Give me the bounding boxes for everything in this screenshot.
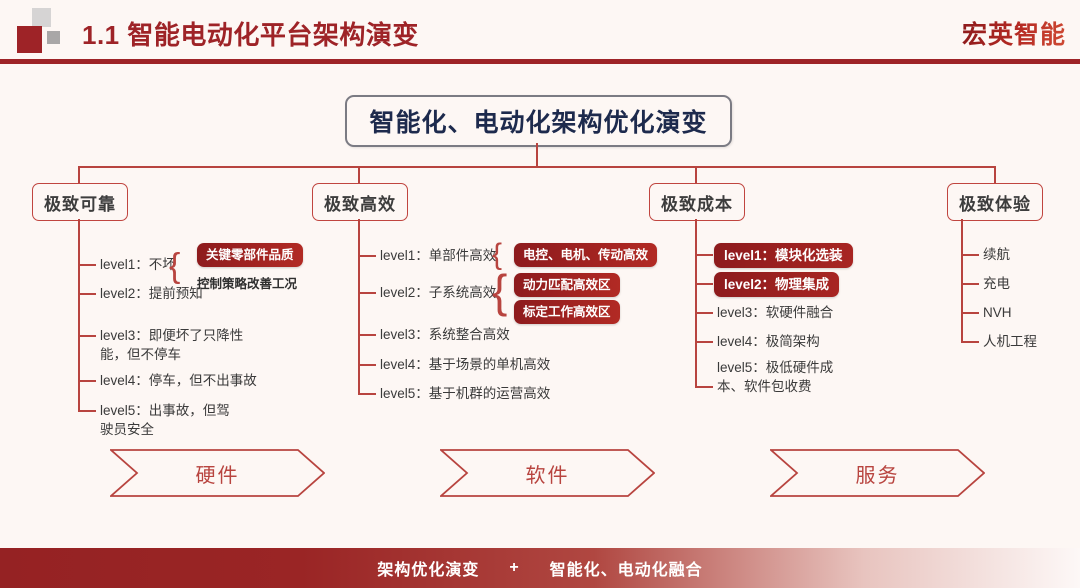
col1-level-1: level1：不坏 (100, 255, 176, 274)
col2-badge-3[interactable]: 标定工作高效区 (514, 300, 620, 324)
category-label-4: 极致体验 (959, 190, 1031, 215)
col3-tick-3 (695, 312, 713, 314)
col2-spine (358, 219, 360, 394)
col2-level-2: level2：子系统高效 (380, 283, 496, 302)
company-logo: 宏英智能 (962, 15, 1066, 51)
category-box-2[interactable]: 极致高效 (312, 183, 408, 221)
col3-tick-1 (695, 254, 713, 256)
chevron-software-label: 软件 (440, 459, 655, 488)
footer-right-label: 智能化、电动化融合 (550, 556, 703, 580)
category-label-1: 极致可靠 (44, 190, 116, 215)
col2-tick-3 (358, 334, 376, 336)
col2-brace-2-icon: { (492, 268, 507, 314)
col1-brace-icon: { (169, 249, 180, 283)
col3-level-2[interactable]: level2：物理集成 (714, 272, 839, 297)
col4-spine (961, 219, 963, 342)
col1-level-5: level5：出事故，但驾驶员安全 (100, 401, 240, 439)
category-box-1[interactable]: 极致可靠 (32, 183, 128, 221)
decor-square-top-icon (32, 8, 51, 27)
col4-tick-2 (961, 283, 979, 285)
col1-tick-3 (78, 335, 96, 337)
slide-header: 1.1 智能电动化平台架构演变 宏英智能 (0, 0, 1080, 63)
col3-tick-5 (695, 386, 713, 388)
col2-badge-2[interactable]: 动力匹配高效区 (514, 273, 620, 297)
col4-item-1: 续航 (983, 245, 1010, 264)
root-title-label: 智能化、电动化架构优化演变 (369, 103, 707, 139)
col1-level-3: level3：即便坏了只降性能，但不停车 (100, 326, 250, 364)
col4-item-4: 人机工程 (983, 332, 1037, 351)
col4-tick-4 (961, 341, 979, 343)
category-label-2: 极致高效 (324, 190, 396, 215)
category-box-4[interactable]: 极致体验 (947, 183, 1043, 221)
category-label-3: 极致成本 (661, 190, 733, 215)
col2-level-4: level4：基于场景的单机高效 (380, 355, 550, 374)
col1-spine (78, 219, 80, 411)
chevron-software[interactable]: 软件 (440, 449, 655, 497)
col1-badge-2: 控制策略改善工况 (197, 273, 297, 292)
chevron-hardware[interactable]: 硬件 (110, 449, 325, 497)
col1-tick-5 (78, 410, 96, 412)
col4-item-3: NVH (983, 303, 1012, 322)
col1-badge-1[interactable]: 关键零部件品质 (197, 243, 303, 267)
root-title-box: 智能化、电动化架构优化演变 (345, 95, 732, 147)
col1-level-4: level4：停车，但不出事故 (100, 371, 257, 390)
col2-level-1: level1：单部件高效 (380, 246, 496, 265)
col4-item-2: 充电 (983, 274, 1010, 293)
chevron-service-label: 服务 (770, 459, 985, 488)
col3-level-5: level5：极低硬件成本、软件包收费 (717, 358, 837, 396)
col1-tick-2 (78, 293, 96, 295)
col2-tick-1 (358, 255, 376, 257)
col2-tick-4 (358, 364, 376, 366)
connector-horizontal-bus (78, 166, 996, 168)
decor-square-small-icon (47, 31, 60, 44)
col1-level-2: level2：提前预知 (100, 284, 203, 303)
col2-level-3: level3：系统整合高效 (380, 325, 510, 344)
category-box-3[interactable]: 极致成本 (649, 183, 745, 221)
col4-tick-1 (961, 254, 979, 256)
footer-text-group: 架构优化演变 + 智能化、电动化融合 (0, 548, 1080, 588)
col3-tick-4 (695, 341, 713, 343)
col1-tick-1 (78, 264, 96, 266)
footer-plus-label: + (509, 559, 519, 577)
slide-canvas: 1.1 智能电动化平台架构演变 宏英智能 智能化、电动化架构优化演变 极致可靠 … (0, 0, 1080, 588)
col3-tick-2 (695, 283, 713, 285)
footer-left-label: 架构优化演变 (377, 556, 479, 580)
col3-spine (695, 219, 697, 387)
col2-badge-1[interactable]: 电控、电机、传动高效 (514, 243, 657, 267)
col1-tick-4 (78, 380, 96, 382)
connector-root-stem (536, 143, 538, 167)
header-divider (0, 59, 1080, 64)
col3-level-4: level4：极简架构 (717, 332, 820, 351)
chevron-service[interactable]: 服务 (770, 449, 985, 497)
col3-level-1[interactable]: level1：模块化选装 (714, 243, 853, 268)
col4-tick-3 (961, 312, 979, 314)
col2-tick-2 (358, 292, 376, 294)
col2-tick-5 (358, 393, 376, 395)
col3-level-3: level3：软硬件融合 (717, 303, 833, 322)
col2-level-5: level5：基于机群的运营高效 (380, 384, 550, 403)
decor-square-main-icon (17, 26, 42, 53)
chevron-hardware-label: 硬件 (110, 459, 325, 488)
page-title: 1.1 智能电动化平台架构演变 (82, 15, 419, 52)
